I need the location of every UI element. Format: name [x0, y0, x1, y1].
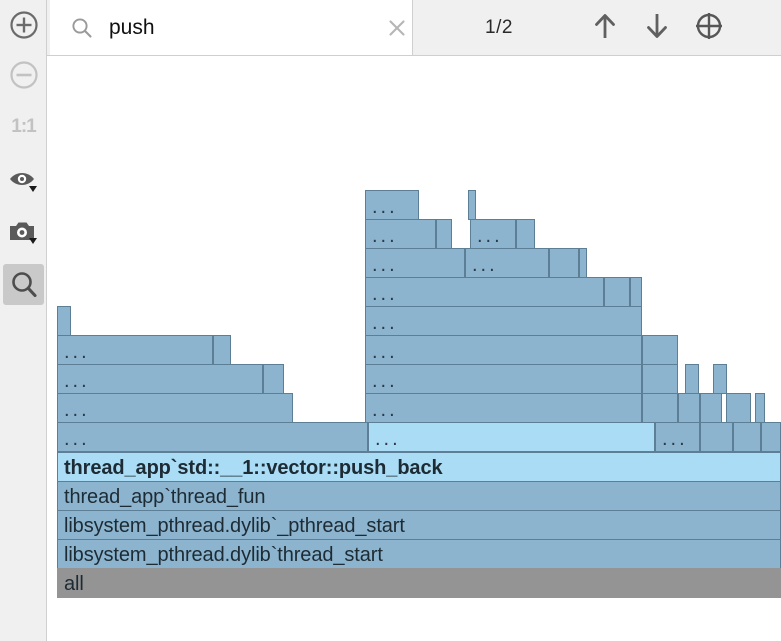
- zoom-out-icon: [8, 59, 40, 91]
- camera-icon: [7, 219, 41, 247]
- flame-frame[interactable]: ...: [365, 306, 642, 336]
- flame-frame[interactable]: [468, 190, 476, 220]
- flame-root-frame[interactable]: all: [57, 568, 781, 598]
- flame-frame[interactable]: [213, 335, 231, 365]
- flame-frame[interactable]: [516, 219, 535, 249]
- search-input[interactable]: [109, 13, 380, 43]
- zoom-out-button[interactable]: [3, 54, 44, 95]
- flame-frame-label: thread_app`thread_fun: [64, 485, 265, 509]
- flame-frame-label: libsystem_pthread.dylib`_pthread_start: [64, 514, 405, 538]
- flame-frame[interactable]: ...: [365, 364, 642, 394]
- flame-frame[interactable]: [733, 422, 761, 452]
- focus-match-button[interactable]: [689, 8, 729, 48]
- close-icon[interactable]: [380, 11, 414, 45]
- flame-frame-label: ...: [64, 369, 90, 393]
- flame-frame-label: ...: [372, 282, 398, 306]
- flame-graph-canvas[interactable]: ........................................…: [48, 56, 781, 641]
- visibility-button[interactable]: [3, 160, 44, 201]
- flame-frame[interactable]: [57, 306, 71, 336]
- flame-frame[interactable]: [713, 364, 727, 394]
- flame-frame[interactable]: [436, 219, 452, 249]
- flame-frame[interactable]: [678, 393, 700, 423]
- flame-frame-label: libsystem_pthread.dylib`thread_start: [64, 543, 383, 567]
- flame-frame[interactable]: [642, 364, 678, 394]
- snapshot-button[interactable]: [3, 212, 44, 253]
- flame-frame[interactable]: [630, 277, 642, 307]
- flame-frame[interactable]: [549, 248, 579, 278]
- flame-frame[interactable]: [726, 393, 751, 423]
- flame-graph-window: 1:1: [0, 0, 781, 641]
- flame-stack-frame[interactable]: thread_app`thread_fun: [57, 481, 781, 511]
- flame-frame[interactable]: ...: [655, 422, 700, 452]
- flame-frame-label: ...: [64, 427, 90, 451]
- left-toolbar: 1:1: [0, 0, 47, 641]
- flame-frame[interactable]: ...: [365, 190, 419, 220]
- flame-stack-frame[interactable]: thread_app`std::__1::vector::push_back: [57, 452, 781, 482]
- flame-frame-label: all: [64, 572, 84, 596]
- search-field-container[interactable]: [50, 0, 413, 55]
- flame-frame[interactable]: [642, 393, 678, 423]
- flame-frame-label: ...: [372, 195, 398, 219]
- flame-frame[interactable]: ...: [470, 219, 516, 249]
- search-icon: [8, 269, 40, 301]
- flame-frame[interactable]: ...: [365, 393, 642, 423]
- flame-frame[interactable]: ...: [365, 277, 604, 307]
- flame-frame-label: ...: [662, 427, 688, 451]
- flame-frame[interactable]: ...: [465, 248, 549, 278]
- flame-frame[interactable]: [685, 364, 699, 394]
- flame-frame[interactable]: [761, 422, 781, 452]
- flame-frame-label: ...: [64, 340, 90, 364]
- zoom-in-button[interactable]: [3, 4, 44, 45]
- zoom-reset-icon: 1:1: [11, 116, 35, 138]
- search-toolbar: 1/2: [47, 0, 781, 56]
- flame-frame[interactable]: ...: [365, 335, 642, 365]
- next-match-button[interactable]: [637, 8, 677, 48]
- flame-frame[interactable]: ...: [365, 248, 465, 278]
- flame-frame[interactable]: ...: [57, 335, 213, 365]
- flame-frame-label: ...: [372, 369, 398, 393]
- flame-frame[interactable]: ...: [368, 422, 655, 452]
- previous-match-button[interactable]: [585, 8, 625, 48]
- flame-frame-label: ...: [372, 311, 398, 335]
- flame-frame[interactable]: [755, 393, 765, 423]
- arrow-down-icon: [644, 11, 670, 46]
- flame-stack-frame[interactable]: libsystem_pthread.dylib`_pthread_start: [57, 510, 781, 540]
- flame-frame[interactable]: ...: [365, 219, 436, 249]
- flame-frame-label: ...: [372, 340, 398, 364]
- flame-frame-label: ...: [477, 224, 503, 248]
- flame-frame[interactable]: [642, 335, 678, 365]
- flame-frame-label: ...: [372, 224, 398, 248]
- zoom-in-icon: [8, 9, 40, 41]
- flame-frame[interactable]: [700, 422, 733, 452]
- flame-frame[interactable]: ...: [57, 393, 293, 423]
- zoom-reset-button[interactable]: 1:1: [3, 106, 44, 147]
- crosshair-icon: [693, 10, 725, 47]
- flame-frame-label: thread_app`std::__1::vector::push_back: [64, 456, 443, 480]
- match-counter: 1/2: [485, 0, 513, 55]
- flame-frame[interactable]: [604, 277, 630, 307]
- flame-frame[interactable]: ...: [57, 364, 263, 394]
- flame-stack-frame[interactable]: libsystem_pthread.dylib`thread_start: [57, 539, 781, 569]
- search-toggle-button[interactable]: [3, 264, 44, 305]
- arrow-up-icon: [592, 11, 618, 46]
- flame-frame-label: ...: [472, 253, 498, 277]
- flame-frame-label: ...: [372, 253, 398, 277]
- flame-frame[interactable]: [579, 248, 587, 278]
- flame-frame[interactable]: ...: [57, 422, 368, 452]
- eye-icon: [7, 167, 41, 195]
- flame-frame-label: ...: [64, 398, 90, 422]
- flame-frame-label: ...: [372, 398, 398, 422]
- flame-frame[interactable]: [700, 393, 722, 423]
- flame-frame[interactable]: [263, 364, 284, 394]
- flame-frame-label: ...: [375, 427, 401, 451]
- search-icon: [71, 17, 93, 39]
